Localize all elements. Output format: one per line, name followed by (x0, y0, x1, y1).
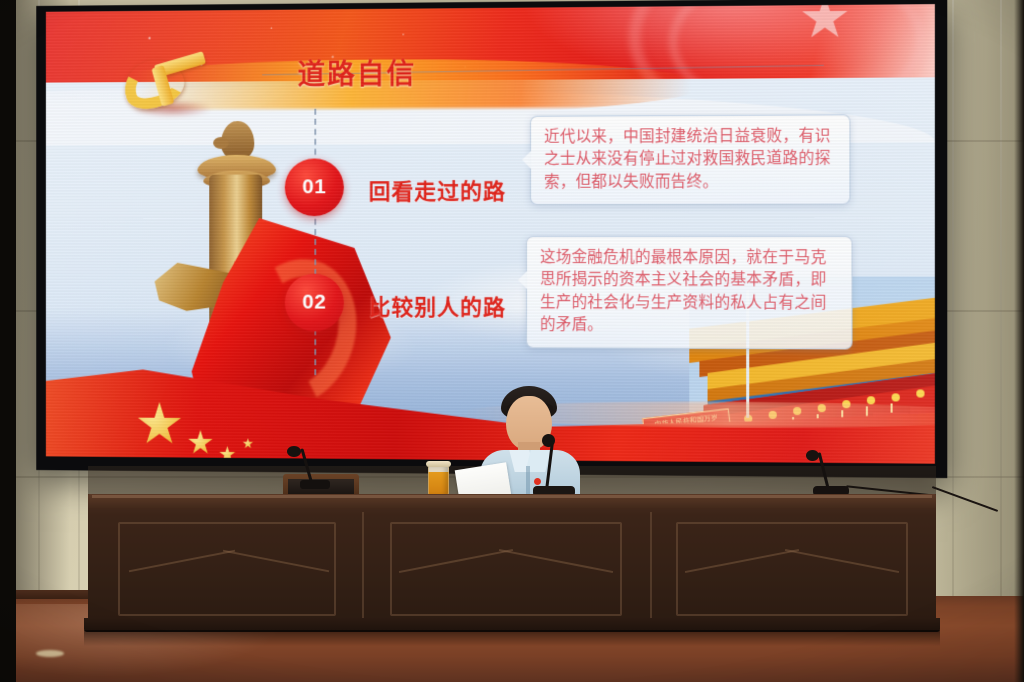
callout-box-2: 这场金融危机的最根本原因，就在于马克思所揭示的资本主义社会的基本矛盾，即生产的社… (526, 236, 853, 349)
lapel-badge (534, 478, 541, 485)
tea-cup (428, 465, 449, 497)
timeline-marker-01[interactable]: 01 (285, 158, 344, 216)
image-right-edge (1014, 0, 1024, 682)
podium-top-highlight (92, 495, 932, 498)
podium-segment-divider (650, 512, 652, 624)
timeline-marker-02[interactable]: 02 (285, 274, 344, 332)
podium-panel (676, 522, 908, 616)
callout-box-1: 近代以来，中国封建统治日益衰败，有识之士从来没有停止过对救国救民道路的探索，但都… (530, 114, 850, 205)
slide-title: 道路自信 (298, 52, 417, 93)
podium-panel (390, 522, 622, 616)
microphone-left-head (287, 446, 301, 457)
microphone-right-head (806, 450, 819, 461)
image-left-edge (0, 0, 16, 682)
podium-shadow (84, 630, 940, 646)
ccp-emblem-icon (121, 52, 215, 114)
timeline-label-01: 回看走过的路 (369, 174, 506, 206)
podium-segment-divider (362, 512, 364, 624)
screenshot-scene: 道路自信 (0, 0, 1024, 682)
timeline-label-02: 比较别人的路 (369, 290, 506, 322)
floor-light-spot (36, 650, 64, 657)
timeline-dashed-connector (314, 109, 316, 375)
microphone-center-head (542, 434, 555, 447)
timeline-number: 02 (302, 291, 326, 315)
podium-panel (118, 522, 336, 616)
tea-cup-lid (426, 461, 451, 467)
timeline-number: 01 (302, 175, 326, 199)
microphone-left-base (300, 480, 330, 489)
